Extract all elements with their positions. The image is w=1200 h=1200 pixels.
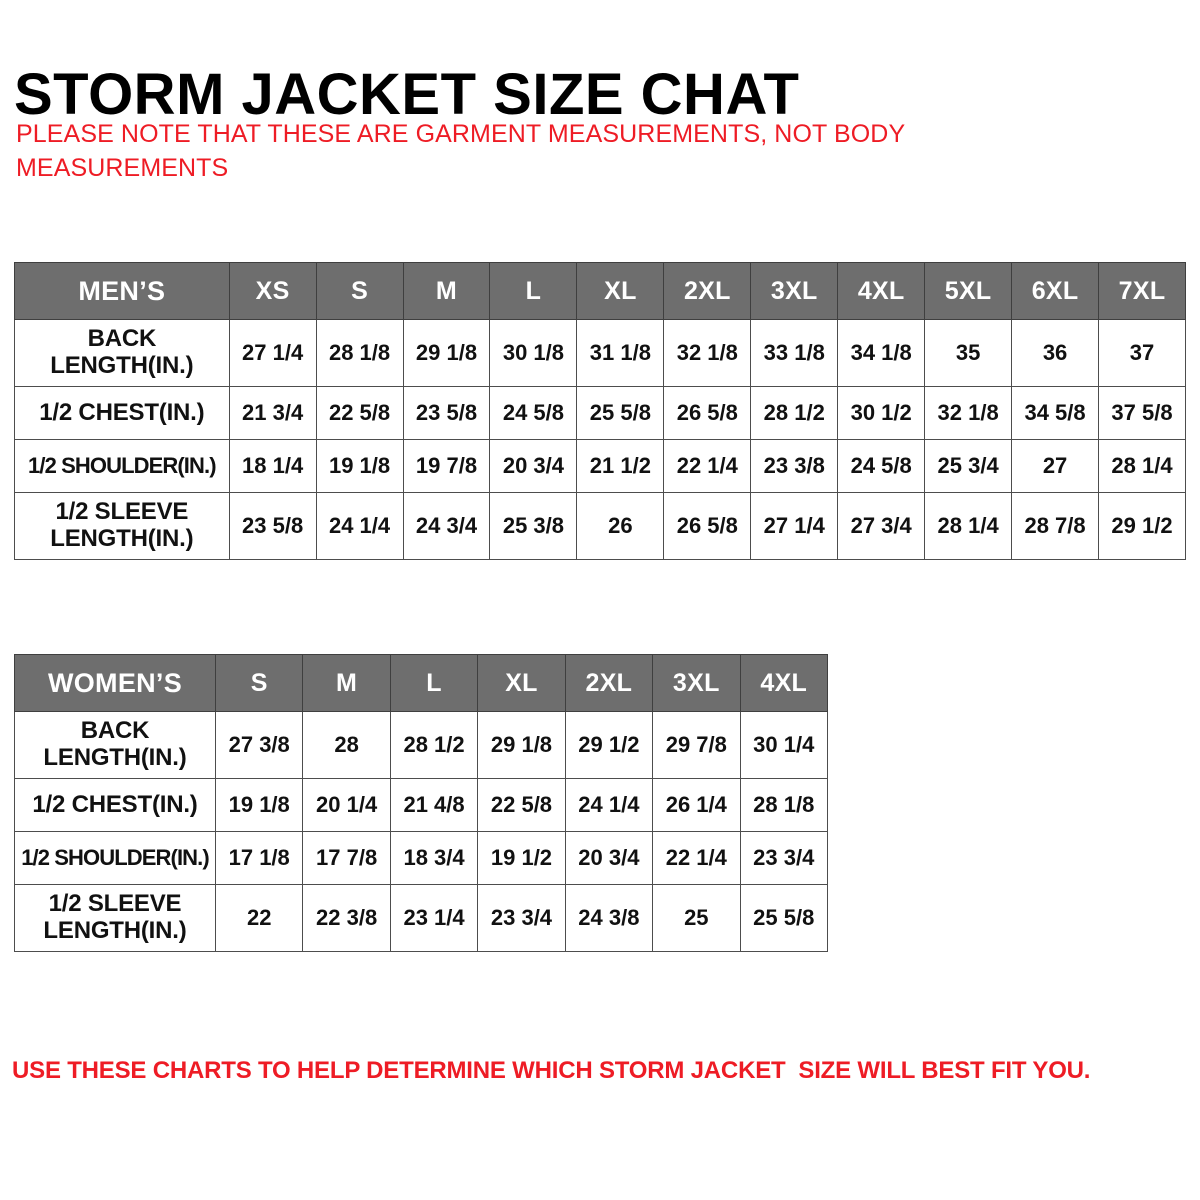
cell-mens-half-shoulder-6xl: 27 <box>1012 440 1099 493</box>
cell-womens-back-length-2xl: 29 1/2 <box>565 712 652 779</box>
table-row: 1/2 SHOULDER(IN.) 17 1/8 17 7/8 18 3/4 1… <box>15 832 828 885</box>
cell-womens-half-chest-s: 19 1/8 <box>215 779 302 832</box>
table-row: BACK LENGTH(IN.) 27 1/4 28 1/8 29 1/8 30… <box>15 320 1186 387</box>
womens-table-head: WOMEN’S S M L XL 2XL 3XL 4XL <box>15 655 828 712</box>
cell-mens-back-length-s: 28 1/8 <box>316 320 403 387</box>
womens-table-body: BACK LENGTH(IN.) 27 3/8 28 28 1/2 29 1/8… <box>15 712 828 952</box>
womens-row-label-half-shoulder: 1/2 SHOULDER(IN.) <box>15 832 216 885</box>
mens-row-label-back-length-line1: BACK <box>88 325 157 352</box>
cell-womens-half-sleeve-m: 22 3/8 <box>303 885 390 952</box>
cell-mens-back-length-7xl: 37 <box>1099 320 1186 387</box>
mens-column-header-4xl: 4XL <box>838 263 925 320</box>
womens-column-header-4xl: 4XL <box>740 655 827 712</box>
cell-womens-half-chest-4xl: 28 1/8 <box>740 779 827 832</box>
womens-column-header-2xl: 2XL <box>565 655 652 712</box>
cell-womens-half-sleeve-s: 22 <box>215 885 302 952</box>
mens-table-body: BACK LENGTH(IN.) 27 1/4 28 1/8 29 1/8 30… <box>15 320 1186 560</box>
cell-mens-half-sleeve-6xl: 28 7/8 <box>1012 493 1099 560</box>
cell-womens-half-shoulder-3xl: 22 1/4 <box>653 832 740 885</box>
page-title: STORM JACKET SIZE CHAT <box>14 65 799 126</box>
cell-mens-half-sleeve-7xl: 29 1/2 <box>1099 493 1186 560</box>
mens-column-header-xl: XL <box>577 263 664 320</box>
cell-womens-half-chest-3xl: 26 1/4 <box>653 779 740 832</box>
womens-column-header-m: M <box>303 655 390 712</box>
cell-mens-back-length-4xl: 34 1/8 <box>838 320 925 387</box>
cell-mens-half-chest-7xl: 37 5/8 <box>1099 387 1186 440</box>
cell-womens-half-shoulder-l: 18 3/4 <box>390 832 477 885</box>
cell-womens-back-length-s: 27 3/8 <box>215 712 302 779</box>
cell-mens-half-sleeve-4xl: 27 3/4 <box>838 493 925 560</box>
cell-mens-half-shoulder-m: 19 7/8 <box>403 440 490 493</box>
mens-table-head: MEN’S XS S M L XL 2XL 3XL 4XL 5XL 6XL 7X… <box>15 263 1186 320</box>
cell-mens-half-chest-3xl: 28 1/2 <box>751 387 838 440</box>
cell-womens-half-sleeve-xl: 23 3/4 <box>478 885 565 952</box>
cell-womens-back-length-xl: 29 1/8 <box>478 712 565 779</box>
cell-mens-half-sleeve-xs: 23 5/8 <box>229 493 316 560</box>
cell-mens-half-sleeve-2xl: 26 5/8 <box>664 493 751 560</box>
mens-column-header-xs: XS <box>229 263 316 320</box>
cell-mens-back-length-l: 30 1/8 <box>490 320 577 387</box>
table-row: 1/2 SHOULDER(IN.) 18 1/4 19 1/8 19 7/8 2… <box>15 440 1186 493</box>
cell-mens-half-sleeve-l: 25 3/8 <box>490 493 577 560</box>
cell-mens-half-sleeve-xl: 26 <box>577 493 664 560</box>
womens-row-label-back-length: BACK LENGTH(IN.) <box>15 712 216 779</box>
cell-mens-half-chest-m: 23 5/8 <box>403 387 490 440</box>
mens-row-label-half-sleeve-length: 1/2 SLEEVE LENGTH(IN.) <box>15 493 230 560</box>
cell-mens-back-length-2xl: 32 1/8 <box>664 320 751 387</box>
cell-mens-half-sleeve-m: 24 3/4 <box>403 493 490 560</box>
cell-womens-half-sleeve-4xl: 25 5/8 <box>740 885 827 952</box>
cell-mens-half-chest-2xl: 26 5/8 <box>664 387 751 440</box>
table-row: 1/2 CHEST(IN.) 19 1/8 20 1/4 21 4/8 22 5… <box>15 779 828 832</box>
cell-mens-back-length-m: 29 1/8 <box>403 320 490 387</box>
womens-column-header-xl: XL <box>478 655 565 712</box>
size-guidance-note: USE THESE CHARTS TO HELP DETERMINE WHICH… <box>12 1057 1192 1085</box>
cell-womens-half-shoulder-4xl: 23 3/4 <box>740 832 827 885</box>
cell-womens-half-chest-l: 21 4/8 <box>390 779 477 832</box>
cell-mens-half-chest-xs: 21 3/4 <box>229 387 316 440</box>
womens-column-header-l: L <box>390 655 477 712</box>
cell-mens-back-length-6xl: 36 <box>1012 320 1099 387</box>
cell-womens-back-length-3xl: 29 7/8 <box>653 712 740 779</box>
womens-row-label-back-length-line1: BACK <box>81 717 150 744</box>
cell-womens-half-chest-m: 20 1/4 <box>303 779 390 832</box>
mens-column-header-m: M <box>403 263 490 320</box>
cell-mens-half-shoulder-5xl: 25 3/4 <box>925 440 1012 493</box>
mens-column-header-3xl: 3XL <box>751 263 838 320</box>
cell-womens-half-chest-2xl: 24 1/4 <box>565 779 652 832</box>
cell-mens-half-shoulder-xl: 21 1/2 <box>577 440 664 493</box>
cell-mens-half-chest-4xl: 30 1/2 <box>838 387 925 440</box>
womens-column-header-3xl: 3XL <box>653 655 740 712</box>
mens-row-label-back-length-line2: LENGTH(IN.) <box>50 352 193 379</box>
mens-row-label-half-sleeve-length-line1: 1/2 SLEEVE <box>55 498 188 525</box>
womens-size-table: WOMEN’S S M L XL 2XL 3XL 4XL BACK LENGTH… <box>14 654 828 952</box>
cell-mens-half-shoulder-l: 20 3/4 <box>490 440 577 493</box>
table-row: BACK LENGTH(IN.) 27 3/8 28 28 1/2 29 1/8… <box>15 712 828 779</box>
mens-corner-label: MEN’S <box>15 263 230 320</box>
cell-womens-half-sleeve-l: 23 1/4 <box>390 885 477 952</box>
cell-womens-half-shoulder-2xl: 20 3/4 <box>565 832 652 885</box>
cell-mens-half-shoulder-xs: 18 1/4 <box>229 440 316 493</box>
cell-mens-half-shoulder-2xl: 22 1/4 <box>664 440 751 493</box>
womens-column-header-s: S <box>215 655 302 712</box>
cell-mens-half-shoulder-4xl: 24 5/8 <box>838 440 925 493</box>
womens-corner-label: WOMEN’S <box>15 655 216 712</box>
cell-womens-half-shoulder-xl: 19 1/2 <box>478 832 565 885</box>
garment-measurement-note: PLEASE NOTE THAT THESE ARE GARMENT MEASU… <box>16 118 1016 186</box>
womens-row-label-back-length-line2: LENGTH(IN.) <box>43 744 186 771</box>
mens-column-header-5xl: 5XL <box>925 263 1012 320</box>
cell-mens-half-sleeve-3xl: 27 1/4 <box>751 493 838 560</box>
cell-womens-half-chest-xl: 22 5/8 <box>478 779 565 832</box>
cell-mens-half-shoulder-7xl: 28 1/4 <box>1099 440 1186 493</box>
mens-column-header-l: L <box>490 263 577 320</box>
table-row: 1/2 SLEEVE LENGTH(IN.) 23 5/8 24 1/4 24 … <box>15 493 1186 560</box>
womens-row-label-half-sleeve-length-line2: LENGTH(IN.) <box>43 917 186 944</box>
mens-row-label-half-shoulder: 1/2 SHOULDER(IN.) <box>15 440 230 493</box>
mens-header-row: MEN’S XS S M L XL 2XL 3XL 4XL 5XL 6XL 7X… <box>15 263 1186 320</box>
mens-row-label-half-sleeve-length-line2: LENGTH(IN.) <box>50 525 193 552</box>
cell-mens-half-chest-5xl: 32 1/8 <box>925 387 1012 440</box>
mens-row-label-back-length: BACK LENGTH(IN.) <box>15 320 230 387</box>
cell-womens-back-length-4xl: 30 1/4 <box>740 712 827 779</box>
cell-womens-half-sleeve-3xl: 25 <box>653 885 740 952</box>
cell-mens-half-chest-xl: 25 5/8 <box>577 387 664 440</box>
womens-row-label-half-chest: 1/2 CHEST(IN.) <box>15 779 216 832</box>
cell-mens-half-chest-l: 24 5/8 <box>490 387 577 440</box>
womens-row-label-half-sleeve-length-line1: 1/2 SLEEVE <box>49 890 182 917</box>
womens-header-row: WOMEN’S S M L XL 2XL 3XL 4XL <box>15 655 828 712</box>
cell-mens-back-length-3xl: 33 1/8 <box>751 320 838 387</box>
mens-row-label-half-chest: 1/2 CHEST(IN.) <box>15 387 230 440</box>
cell-womens-half-sleeve-2xl: 24 3/8 <box>565 885 652 952</box>
cell-womens-back-length-m: 28 <box>303 712 390 779</box>
cell-mens-back-length-xs: 27 1/4 <box>229 320 316 387</box>
table-row: 1/2 SLEEVE LENGTH(IN.) 22 22 3/8 23 1/4 … <box>15 885 828 952</box>
cell-mens-back-length-xl: 31 1/8 <box>577 320 664 387</box>
cell-mens-back-length-5xl: 35 <box>925 320 1012 387</box>
cell-womens-half-shoulder-s: 17 1/8 <box>215 832 302 885</box>
womens-row-label-half-sleeve-length: 1/2 SLEEVE LENGTH(IN.) <box>15 885 216 952</box>
table-row: 1/2 CHEST(IN.) 21 3/4 22 5/8 23 5/8 24 5… <box>15 387 1186 440</box>
mens-column-header-6xl: 6XL <box>1012 263 1099 320</box>
cell-womens-half-shoulder-m: 17 7/8 <box>303 832 390 885</box>
cell-mens-half-sleeve-5xl: 28 1/4 <box>925 493 1012 560</box>
cell-mens-half-shoulder-3xl: 23 3/8 <box>751 440 838 493</box>
mens-size-table: MEN’S XS S M L XL 2XL 3XL 4XL 5XL 6XL 7X… <box>14 262 1186 560</box>
cell-womens-back-length-l: 28 1/2 <box>390 712 477 779</box>
mens-column-header-2xl: 2XL <box>664 263 751 320</box>
mens-column-header-s: S <box>316 263 403 320</box>
mens-column-header-7xl: 7XL <box>1099 263 1186 320</box>
cell-mens-half-chest-s: 22 5/8 <box>316 387 403 440</box>
cell-mens-half-shoulder-s: 19 1/8 <box>316 440 403 493</box>
cell-mens-half-chest-6xl: 34 5/8 <box>1012 387 1099 440</box>
cell-mens-half-sleeve-s: 24 1/4 <box>316 493 403 560</box>
